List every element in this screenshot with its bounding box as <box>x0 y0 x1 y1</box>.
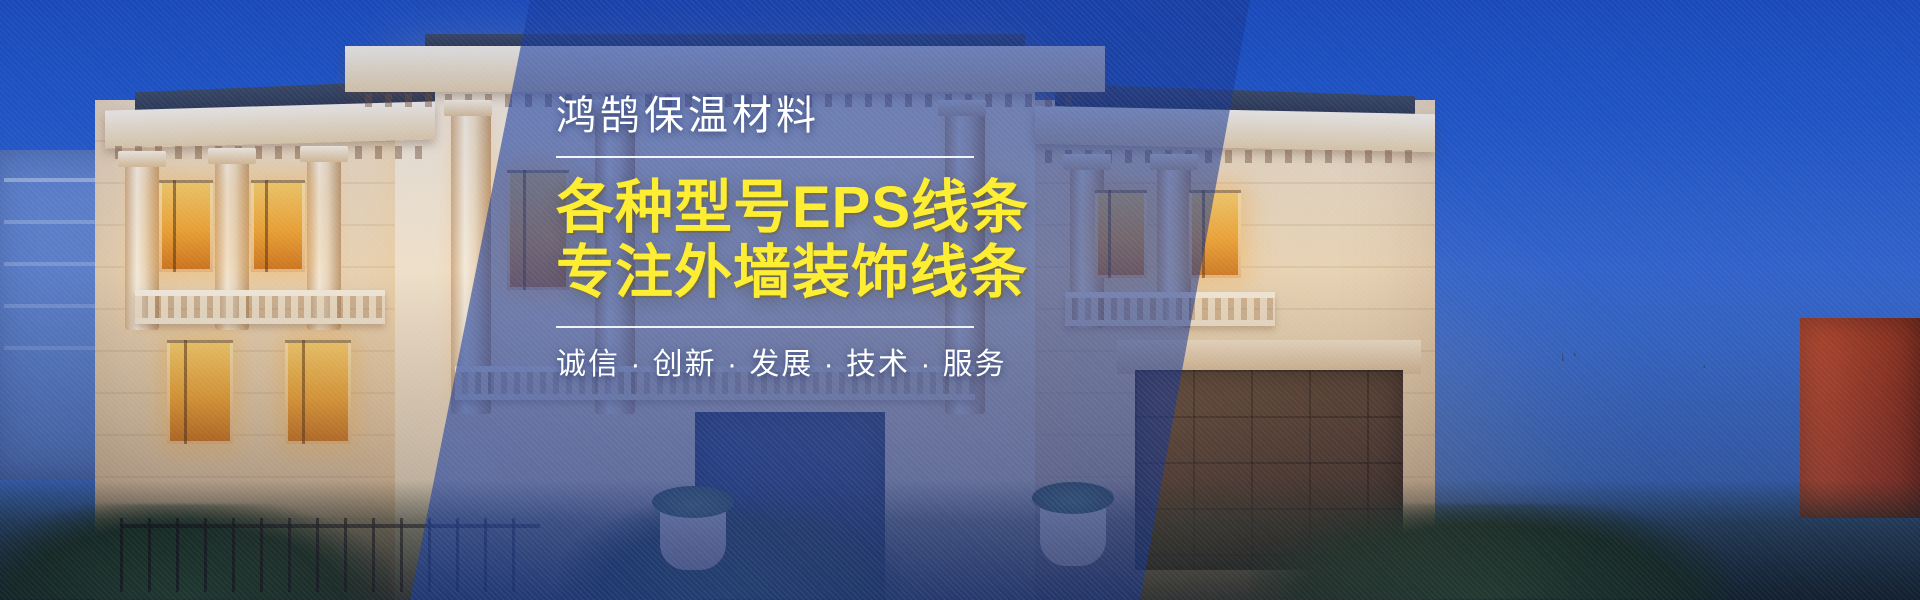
tagline: 诚信 · 创新 · 发展 · 技术 · 服务 <box>556 348 1026 381</box>
shrub-right <box>1250 504 1730 600</box>
window-upper-left-1 <box>159 180 213 272</box>
banner-copy: 鸿鹄保温材料 各种型号EPS线条 专注外墙装饰线条 诚信 · 创新 · 发展 ·… <box>556 96 1026 381</box>
window-lower-left-1 <box>167 340 233 444</box>
balustrade-left <box>135 290 385 324</box>
headline-line-1: 各种型号EPS线条 <box>556 176 1026 241</box>
balustrade-right <box>1065 292 1275 326</box>
planter-left <box>660 512 726 570</box>
window-lower-left-2 <box>285 340 351 444</box>
divider-bottom <box>556 326 974 328</box>
shrub-center <box>560 504 900 600</box>
divider-top <box>556 156 974 158</box>
window-right-2 <box>1189 190 1241 278</box>
promo-banner: 鸿鹄保温材料 各种型号EPS线条 专注外墙装饰线条 诚信 · 创新 · 发展 ·… <box>0 0 1920 600</box>
planter-right <box>1040 508 1106 566</box>
cornice-center <box>345 46 1105 92</box>
garage-lintel <box>1117 340 1421 374</box>
headline: 各种型号EPS线条 专注外墙装饰线条 <box>556 176 1026 306</box>
window-upper-left-2 <box>251 180 305 272</box>
window-right-1 <box>1095 190 1147 278</box>
bare-tree <box>1550 200 1750 430</box>
iron-railing <box>120 518 540 592</box>
brand-name: 鸿鹄保温材料 <box>556 96 1026 136</box>
headline-line-2: 专注外墙装饰线条 <box>556 241 1026 306</box>
